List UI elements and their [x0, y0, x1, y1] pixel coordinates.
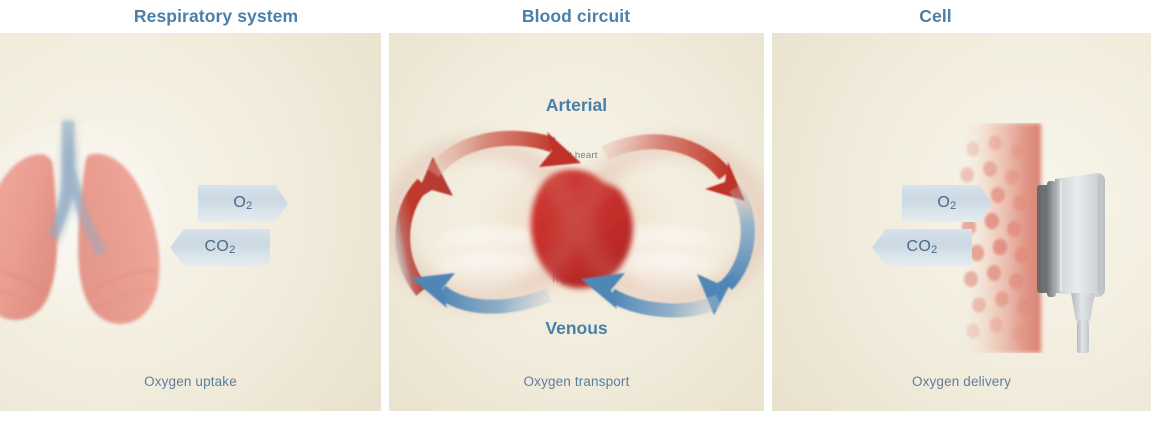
circulation-arrows: [389, 33, 764, 411]
column-header-blood-circuit: Blood circuit: [432, 0, 720, 33]
o2-subscript: 2: [950, 200, 956, 213]
panel-cell: O2 CO2: [772, 33, 1151, 411]
co2-subscript: 2: [229, 244, 235, 257]
o2-subscript: 2: [246, 200, 252, 213]
o2-symbol: O: [937, 194, 950, 212]
caption-oxygen-uptake: Oxygen uptake: [0, 374, 381, 389]
co2-symbol: CO: [906, 238, 931, 256]
column-header-respiratory-system: Respiratory system: [0, 0, 432, 33]
cell-probe-icon: [951, 123, 1141, 353]
column-header-cell: Cell: [720, 0, 1151, 33]
gas-chip-o2-uptake: O2: [198, 185, 288, 222]
panel-respiratory-system: O2 CO2 Oxygen uptake: [0, 33, 381, 411]
co2-subscript: 2: [931, 244, 937, 257]
caption-oxygen-delivery: Oxygen delivery: [772, 374, 1151, 389]
gas-chip-co2-uptake: CO2: [170, 229, 270, 266]
panel-blood-circuit: Arterial Left heart Right heart Venous: [389, 33, 764, 411]
gas-chip-co2-delivery: CO2: [872, 229, 972, 266]
o2-symbol: O: [233, 194, 246, 212]
gas-chip-o2-delivery: O2: [902, 185, 992, 222]
oxygen-pathway-diagram: Respiratory system Blood circuit Cell: [0, 0, 1151, 427]
caption-oxygen-transport: Oxygen transport: [389, 374, 764, 389]
lungs-icon: [0, 111, 188, 341]
co2-symbol: CO: [204, 238, 229, 256]
